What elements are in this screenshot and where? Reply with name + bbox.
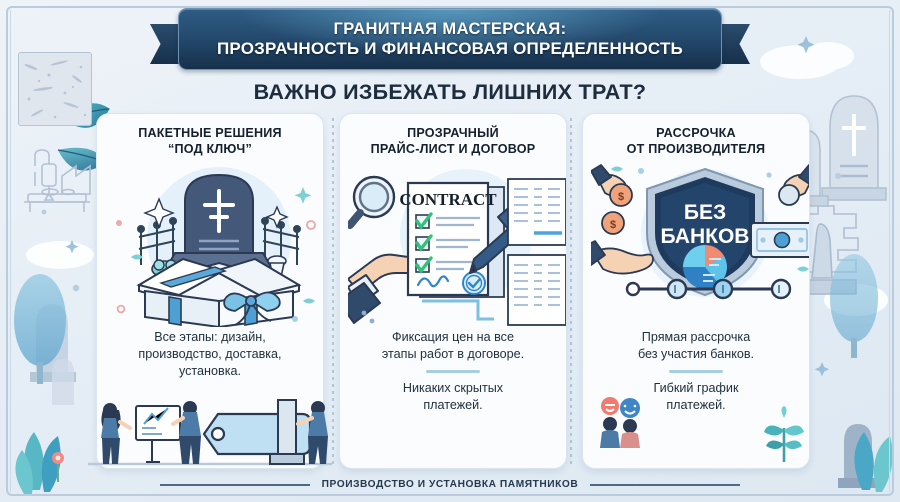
banknote-icon [751,223,810,257]
card-installment-plan[interactable]: РАССРОЧКА ОТ ПРОИЗВОДИТЕЛЯ БЕЗ БАНКОВ [582,113,810,469]
coin-icon: $ [610,184,632,206]
shield-label-line2: БАНКОВ [661,225,750,248]
cards-row: ПАКЕТНЫЕ РЕШЕНИЯ “ПОД КЛЮЧ” [96,113,810,469]
footer-rule-right [590,484,740,486]
shield-no-banks-illustration: БЕЗ БАНКОВ [591,161,801,327]
card3-text1: Прямая рассрочка без участия банков. [638,329,754,363]
card3-divider [669,370,723,373]
card2-text1: Фиксация цен на все этапы работ в догово… [382,329,524,363]
card3-body: Прямая рассрочка без участия банков. Гиб… [638,329,754,414]
card-package-solutions[interactable]: ПАКЕТНЫЕ РЕШЕНИЯ “ПОД КЛЮЧ” [96,113,324,469]
card1-title-line1: ПАКЕТНЫЕ РЕШЕНИЯ [138,125,282,141]
contract-heading: CONTRACT [399,190,497,209]
footer-text: ПРОИЗВОДСТВО И УСТАНОВКА ПАМЯТНИКОВ [322,479,579,490]
card3-title-line2: ОТ ПРОИЗВОДИТЕЛЯ [627,141,766,157]
title-ribbon: ГРАНИТНАЯ МАСТЕРСКАЯ: ПРОЗРАЧНОСТЬ И ФИН… [150,8,750,70]
card1-title: ПАКЕТНЫЕ РЕШЕНИЯ “ПОД КЛЮЧ” [138,125,282,159]
card2-title-line1: ПРОЗРАЧНЫЙ [371,125,536,141]
card2-divider [426,370,480,373]
svg-text:$: $ [618,191,624,203]
card2-text2: Никаких скрытых платежей. [382,380,524,414]
card1-body: Все этапы: дизайн, производство, доставк… [138,329,281,380]
ribbon-body: ГРАНИТНАЯ МАСТЕРСКАЯ: ПРОЗРАЧНОСТЬ И ФИН… [178,8,722,70]
gift-box-monument-illustration [105,161,315,327]
ribbon-title-line2: ПРОЗРАЧНОСТЬ И ФИНАНСОВАЯ ОПРЕДЕЛЕННОСТЬ [217,39,683,59]
contract-checklist-illustration: CONTRACT [348,161,558,327]
footer-rule-left [160,484,310,486]
card3-title: РАССРОЧКА ОТ ПРОИЗВОДИТЕЛЯ [627,125,766,159]
card1-title-line2: “ПОД КЛЮЧ” [138,141,282,157]
card2-title: ПРОЗРАЧНЫЙ ПРАЙС-ЛИСТ И ДОГОВОР [371,125,536,159]
card2-title-line2: ПРАЙС-ЛИСТ И ДОГОВОР [371,141,536,157]
verified-seal [463,272,485,294]
ribbon-title-line1: ГРАНИТНАЯ МАСТЕРСКАЯ: [333,20,566,39]
svg-text:$: $ [610,219,616,231]
coin-icon-2: $ [602,212,624,234]
page-subtitle: ВАЖНО ИЗБЕЖАТЬ ЛИШНИХ ТРАТ? [0,80,900,105]
footer: ПРОИЗВОДСТВО И УСТАНОВКА ПАМЯТНИКОВ [0,479,900,490]
card-transparent-pricing[interactable]: ПРОЗРАЧНЫЙ ПРАЙС-ЛИСТ И ДОГОВОР [339,113,567,469]
card3-title-line1: РАССРОЧКА [627,125,766,141]
card1-text1: Все этапы: дизайн, производство, доставк… [138,329,281,380]
shield-label-line1: БЕЗ [684,201,726,224]
card3-text2: Гибкий график платежей. [638,380,754,414]
stone-factory-icon [16,140,102,226]
infographic-root: ГРАНИТНАЯ МАСТЕРСКАЯ: ПРОЗРАЧНОСТЬ И ФИН… [0,0,900,502]
card2-body: Фиксация цен на все этапы работ в догово… [382,329,524,414]
